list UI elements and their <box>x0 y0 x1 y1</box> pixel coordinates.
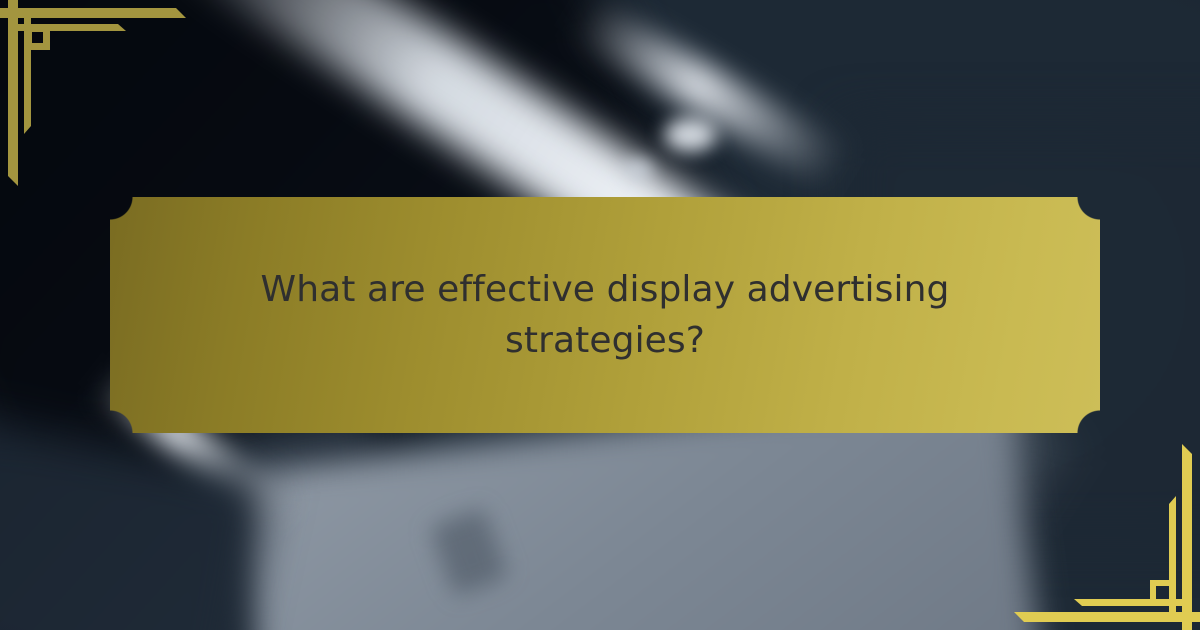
question-card-canvas: What are effective display advertising s… <box>0 0 1200 630</box>
question-banner: What are effective display advertising s… <box>110 197 1100 433</box>
question-text: What are effective display advertising s… <box>255 264 955 366</box>
